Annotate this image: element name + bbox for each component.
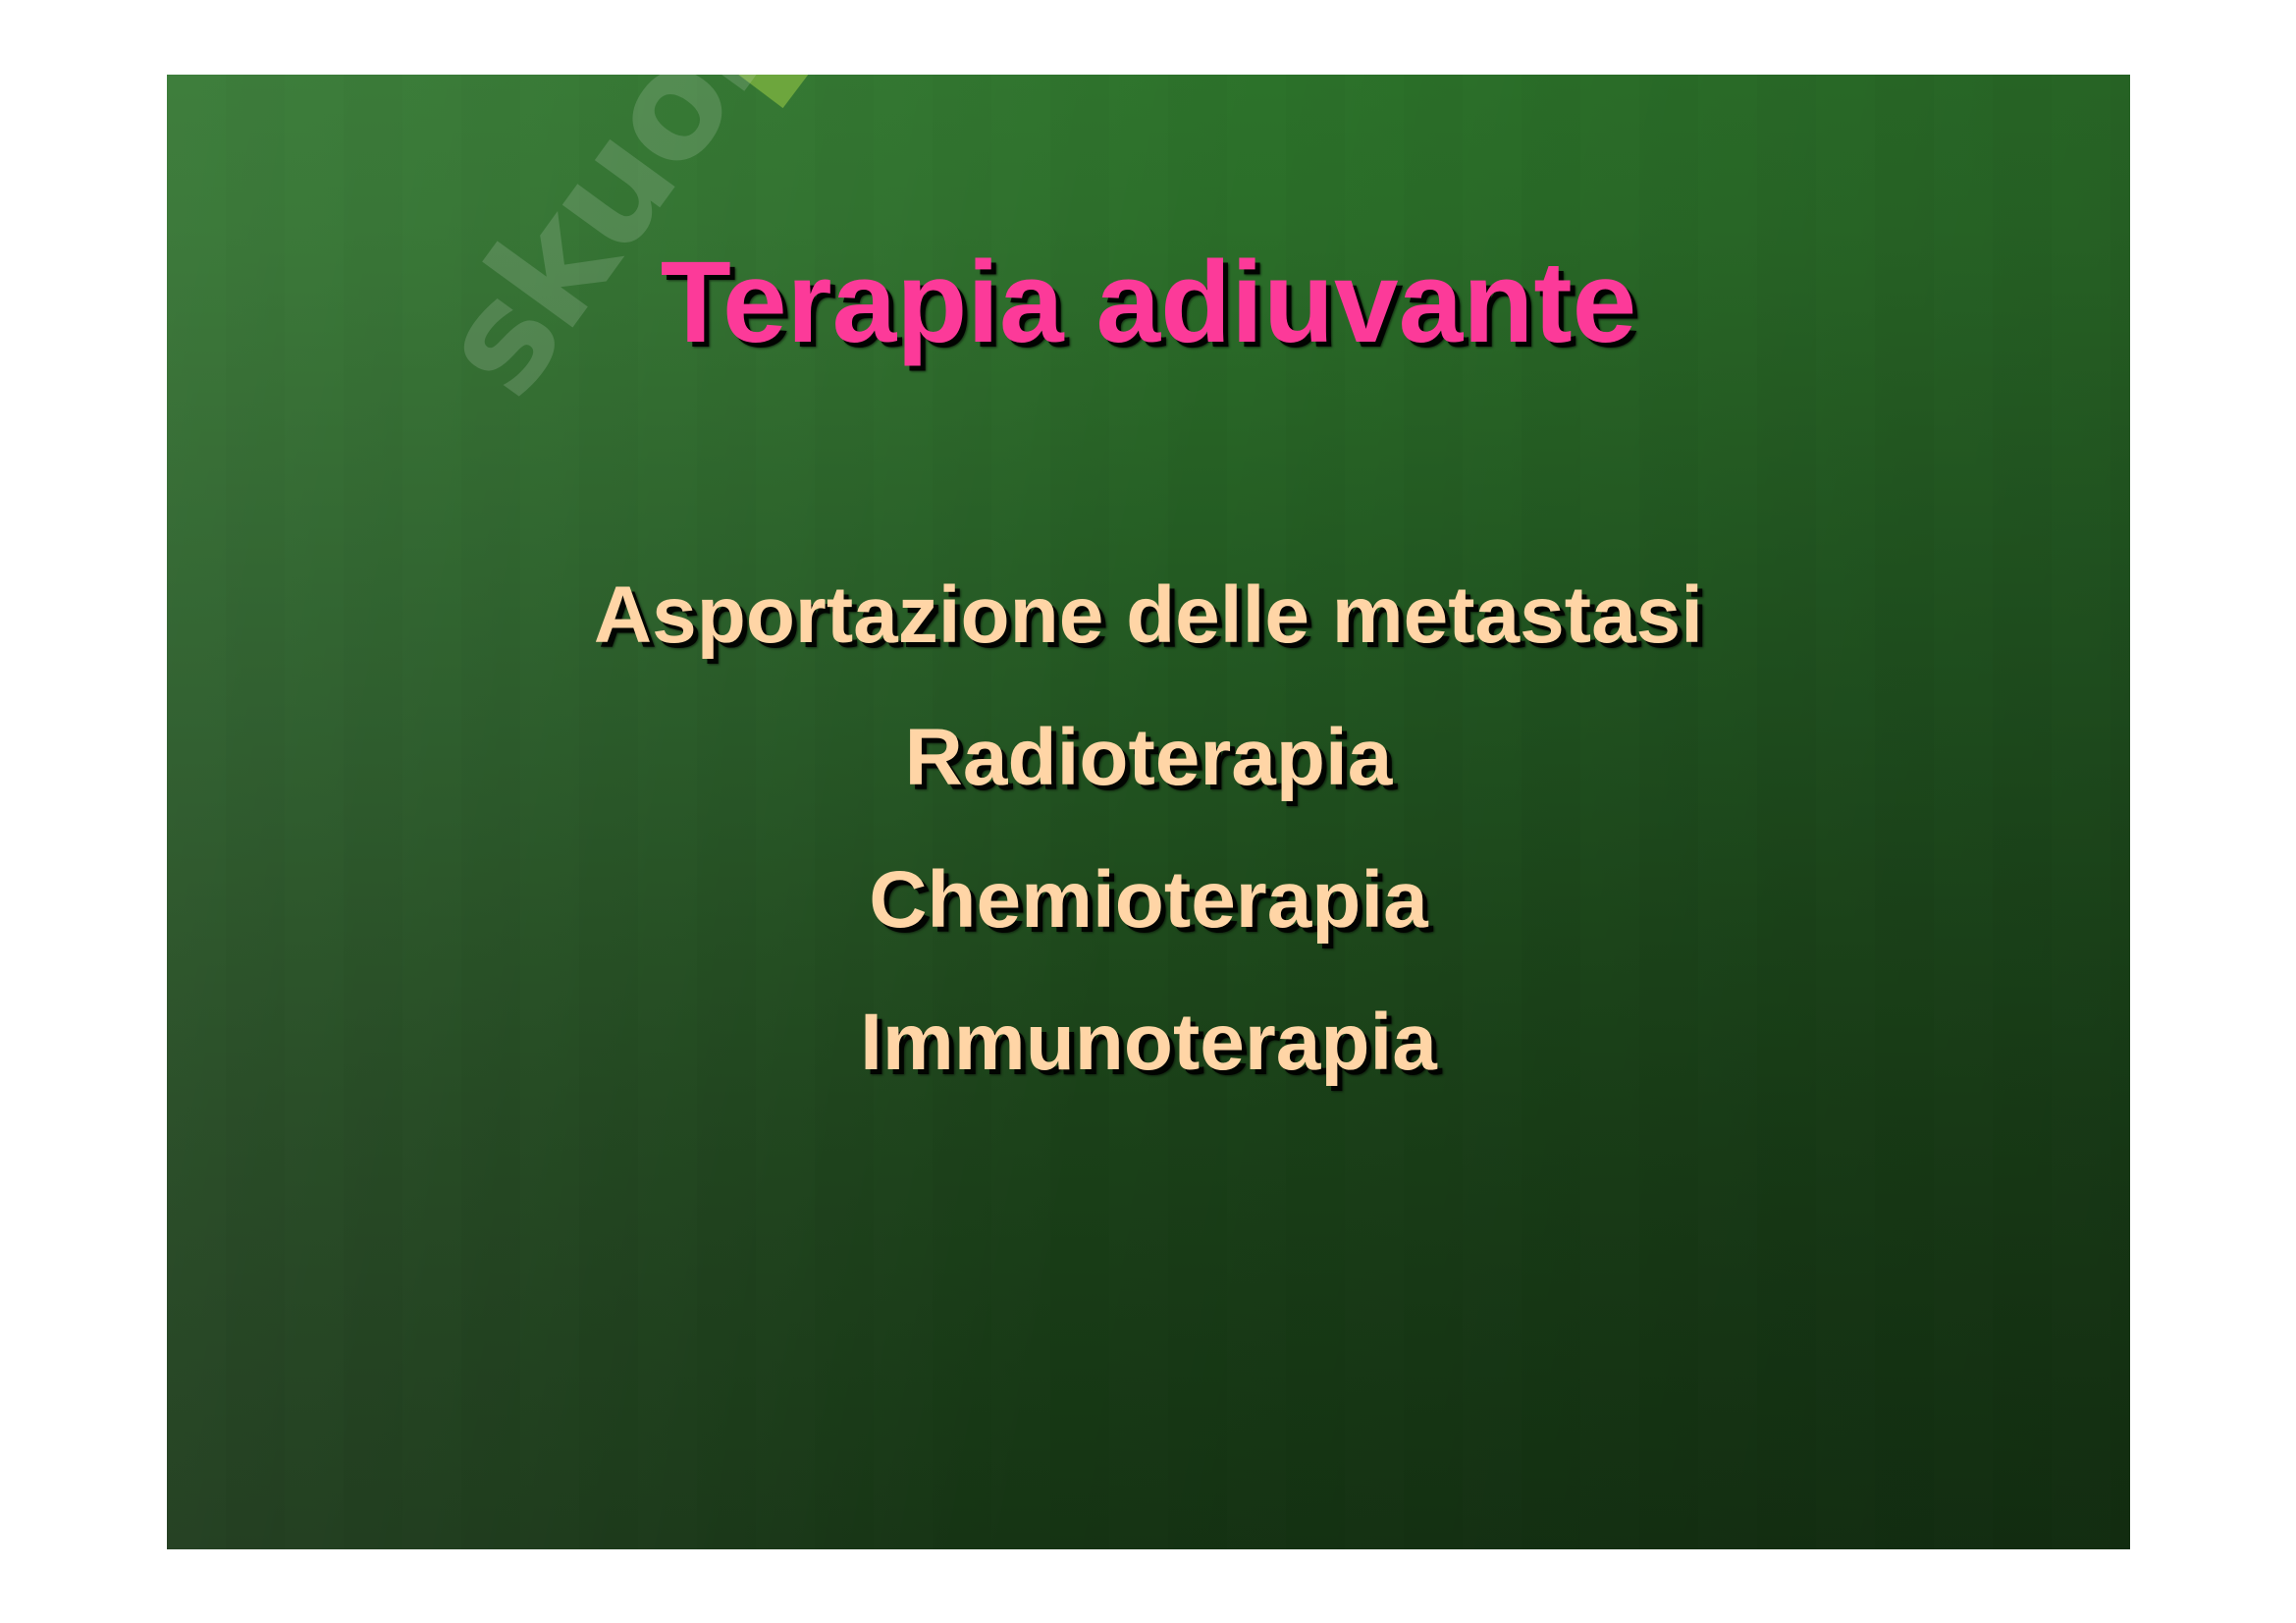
presentation-slide: skuola.net Terapia adiuvante Asportazion… [167, 75, 2130, 1549]
slide-content: Terapia adiuvante Asportazione delle met… [167, 75, 2130, 1549]
body-line-4: Immunoterapia [285, 1002, 2012, 1083]
slide-body-list: Asportazione delle metastasi Radioterapi… [285, 575, 2012, 1083]
body-line-3: Chemioterapia [285, 860, 2012, 941]
slide-title: Terapia adiuvante [167, 243, 2130, 364]
body-line-1: Asportazione delle metastasi [285, 575, 2012, 656]
body-line-2: Radioterapia [285, 718, 2012, 798]
page-canvas: skuola.net Terapia adiuvante Asportazion… [0, 0, 2296, 1623]
